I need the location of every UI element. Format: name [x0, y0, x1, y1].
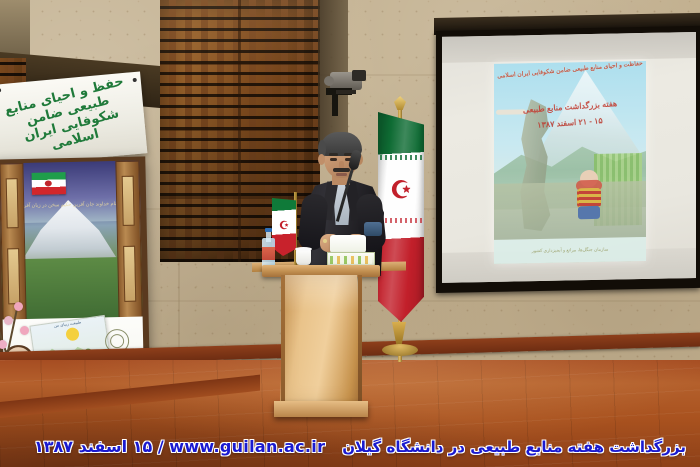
caption-right: بزرگداشت هفته منابع طبیعی در دانشگاه گیل…: [342, 438, 686, 456]
poster-iran-flag: [32, 172, 66, 195]
flag-stand-base: [382, 344, 418, 356]
projection-screen: حفاظت و احیای منابع طبیعی ضامن شکوفایی ا…: [434, 18, 700, 296]
poster-window-frame-right: [115, 161, 142, 321]
wall-banner: حفظ و احیای منابع طبیعی ضامن شکوفایی ایر…: [0, 71, 147, 166]
microphone-base: [364, 222, 382, 236]
water-bottle: [262, 228, 275, 268]
projected-poster: حفاظت و احیای منابع طبیعی ضامن شکوفایی ا…: [494, 61, 646, 264]
speaker-eye-left: [330, 158, 337, 161]
caption-separator: /: [158, 437, 164, 456]
wall-camera: [322, 70, 366, 104]
paper-cup: [296, 249, 311, 265]
podium-edge-right: [358, 275, 362, 405]
podium-base: [274, 401, 368, 417]
poster-ground: [494, 181, 646, 240]
speaker-ring-left: [323, 239, 327, 243]
desk-flag-emblem-icon: ☪: [278, 220, 290, 232]
screen-top-band: [442, 32, 696, 63]
screenshot-root: حفاظت و احیای منابع طبیعی ضامن شکوفایی ا…: [0, 0, 700, 467]
poster-child-figure: [572, 170, 606, 221]
website-url: www.guilan.ac.ir: [169, 437, 325, 456]
podium-lectern: [278, 265, 364, 417]
speaker-ear-left: [318, 154, 325, 165]
speaker-moustache: [333, 168, 350, 172]
podium-front-panel: [280, 275, 362, 405]
speaker-mouth: [336, 173, 347, 176]
caption-left: www.guilan.ac.ir / ۱۵ اسفند ۱۳۸۷: [34, 437, 325, 456]
tissue-sheet: [330, 235, 366, 253]
ceiling-beam-corner: [0, 0, 30, 60]
banner-grommet-left: [0, 88, 1, 92]
screen-frame: حفاظت و احیای منابع طبیعی ضامن شکوفایی ا…: [436, 26, 700, 293]
caption-date: ۱۵ اسفند ۱۳۸۷: [34, 437, 152, 456]
iran-desk-flag: ☪: [272, 192, 298, 268]
screen-surface: حفاظت و احیای منابع طبیعی ضامن شکوفایی ا…: [442, 32, 696, 283]
speaker-eyebrow-left: [329, 153, 338, 156]
podium-edge-left: [281, 275, 285, 405]
tissue-box: [327, 252, 375, 266]
